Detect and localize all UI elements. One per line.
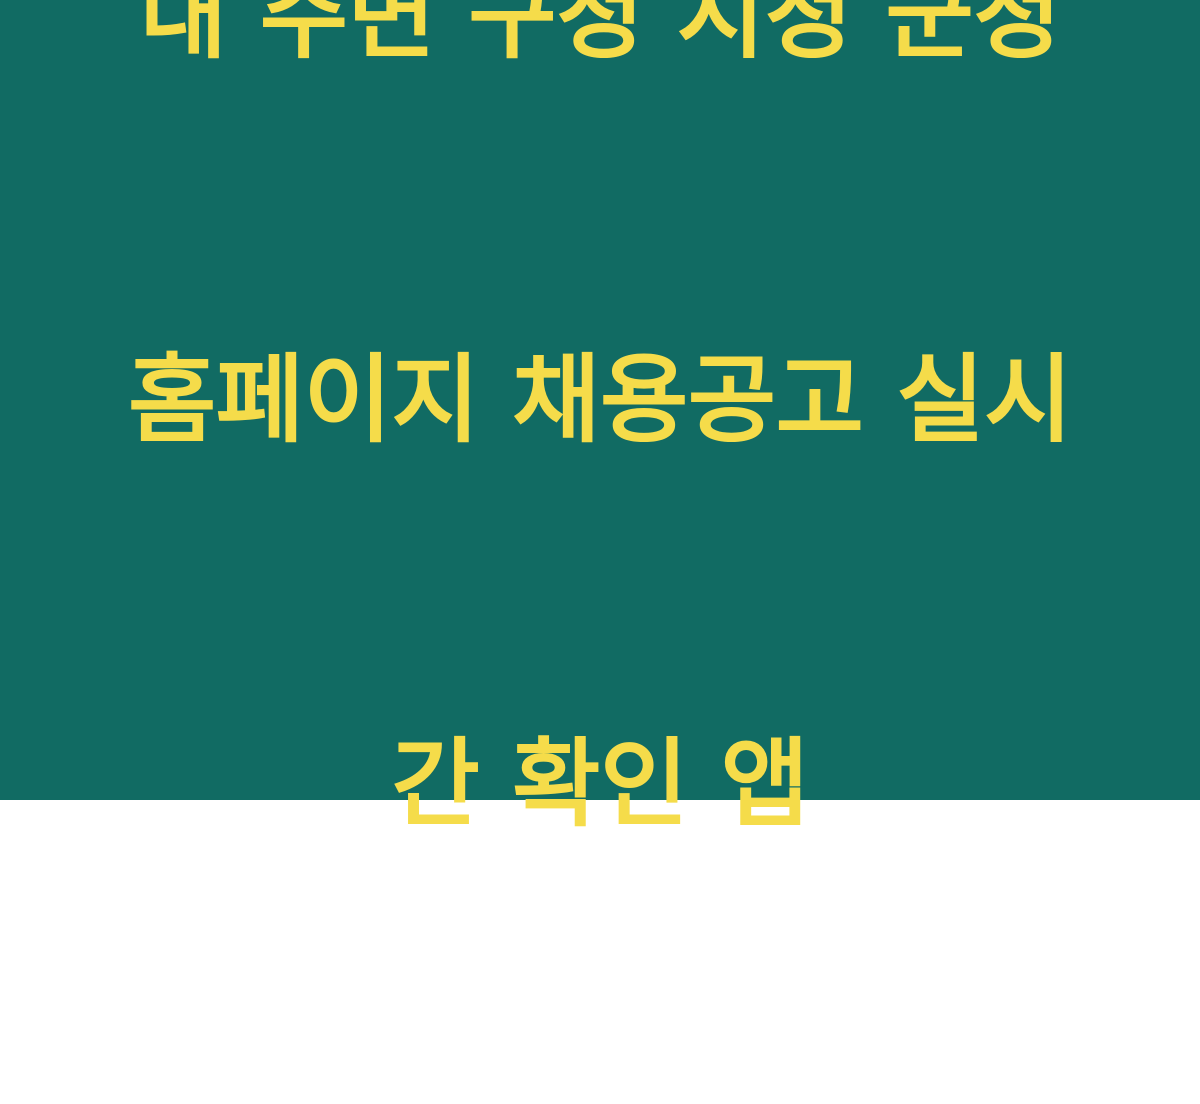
headline-line-1: 내 주변 구청 시청 군청 xyxy=(65,0,1135,80)
headline-line-2: 홈페이지 채용공고 실시 xyxy=(65,336,1135,464)
banner-canvas: 내 주변 구청 시청 군청 홈페이지 채용공고 실시 간 확인 앱 xyxy=(0,0,1200,800)
page-title: 내 주변 구청 시청 군청 홈페이지 채용공고 실시 간 확인 앱 xyxy=(65,0,1135,1104)
headline-line-3: 간 확인 앱 xyxy=(65,720,1135,848)
